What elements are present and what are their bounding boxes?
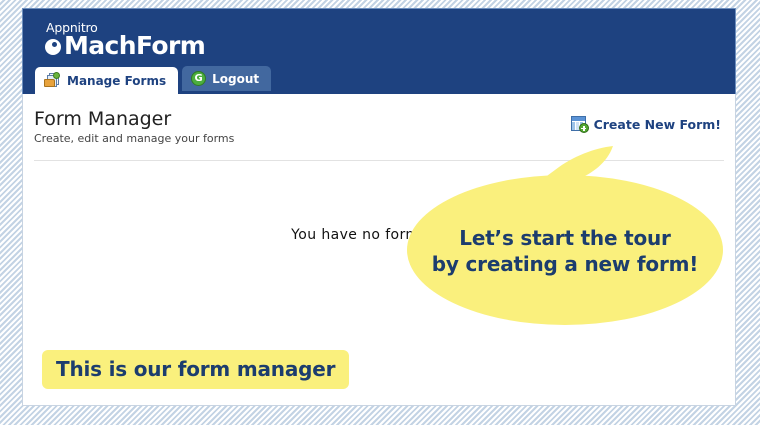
tab-manage-forms-label: Manage Forms [67, 74, 166, 88]
create-new-form-button[interactable]: Create New Form! [571, 116, 721, 133]
page-header: Form Manager Create, edit and manage you… [34, 108, 234, 146]
header-divider [34, 160, 724, 161]
tab-manage-forms[interactable]: Manage Forms [35, 67, 178, 94]
app-header: Appnitro MachForm Manage Forms G Logout [22, 8, 736, 94]
machform-logo: Appnitro MachForm [45, 21, 205, 58]
content-panel: Form Manager Create, edit and manage you… [22, 94, 736, 406]
create-new-form-label: Create New Form! [594, 117, 721, 132]
page-subtitle: Create, edit and manage your forms [34, 132, 234, 146]
tab-logout-label: Logout [212, 72, 259, 86]
tab-logout[interactable]: G Logout [182, 66, 271, 91]
logout-icon: G [191, 71, 206, 86]
machform-mark-icon [45, 39, 61, 55]
main-tabs: Manage Forms G Logout [35, 66, 271, 94]
manage-forms-icon [44, 73, 61, 88]
app-window: Appnitro MachForm Manage Forms G Logout [22, 8, 736, 406]
page-title: Form Manager [34, 108, 234, 130]
logo-machform-text: MachForm [64, 33, 205, 58]
empty-state-message: You have no form yet. G [23, 227, 737, 243]
new-form-icon [571, 116, 589, 133]
